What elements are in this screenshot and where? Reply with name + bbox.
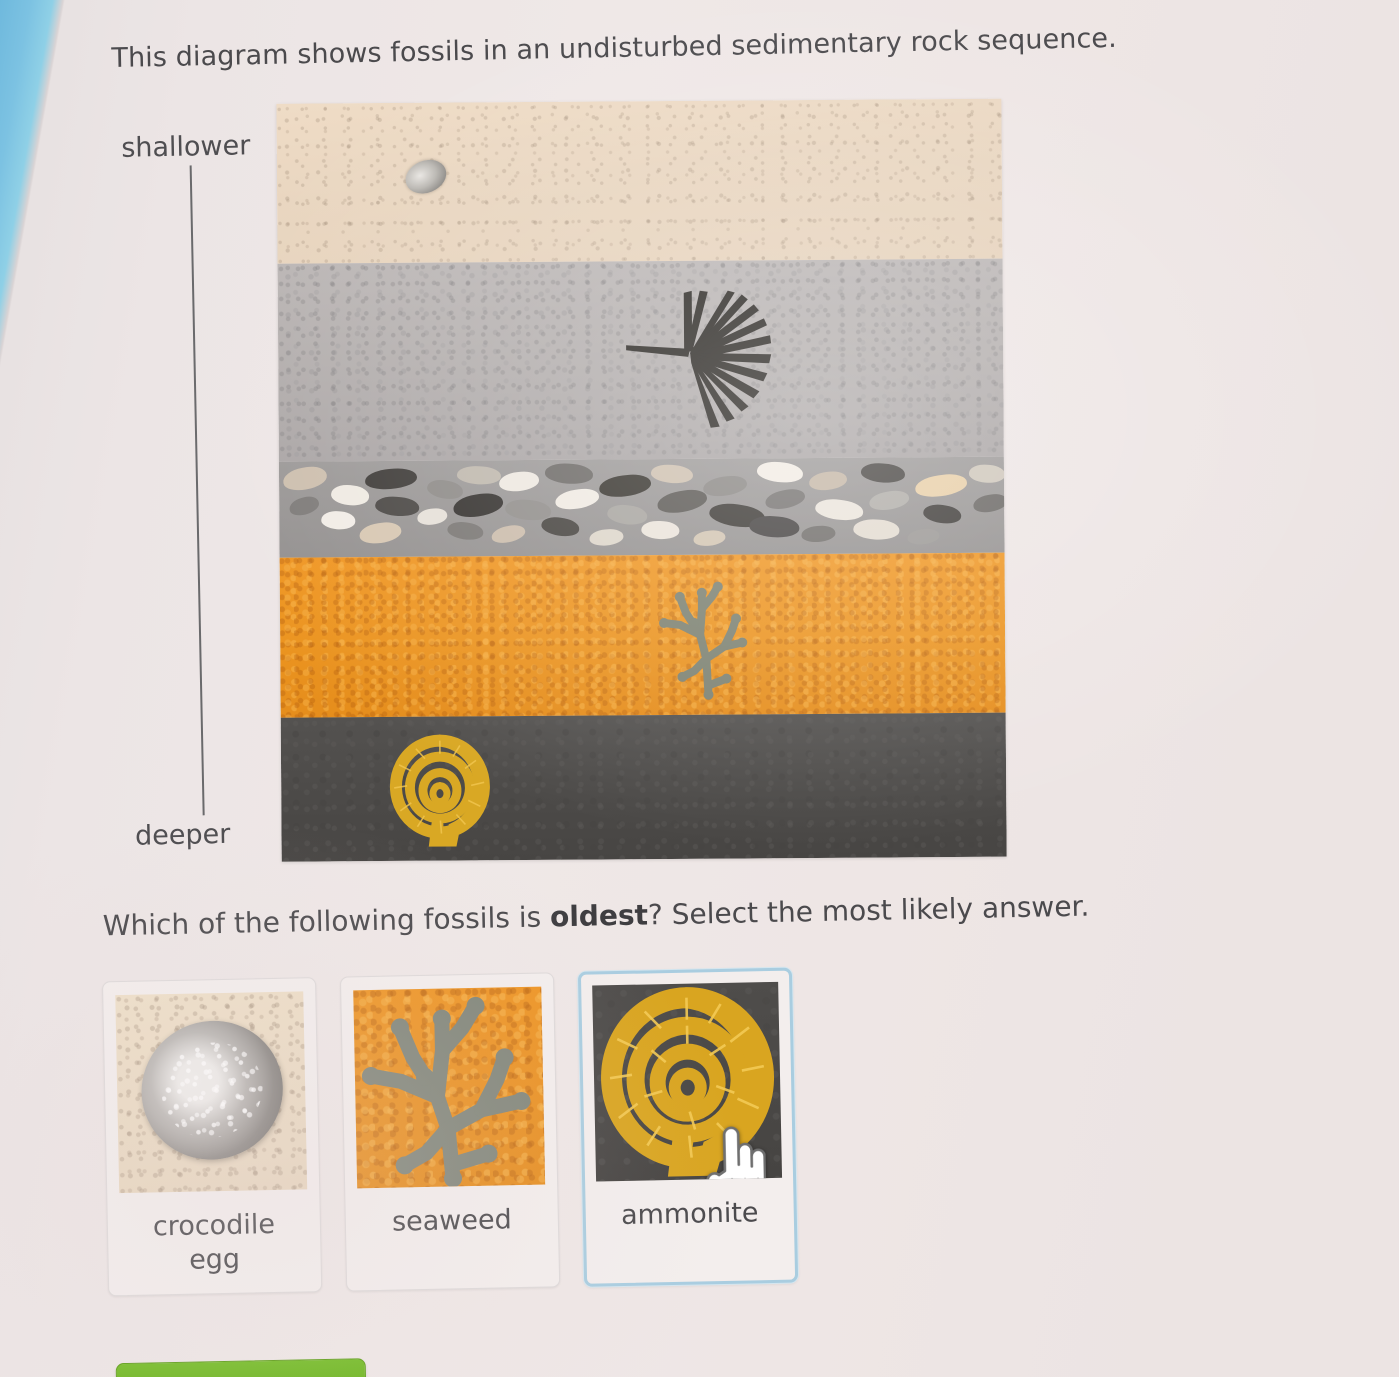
question-suffix: ? Select the most likely answer. [648,890,1090,932]
photographed-screen: This diagram shows fossils in an undistu… [0,0,1399,1377]
choice-crocodile-egg[interactable]: crocodileegg [102,977,322,1296]
choice-seaweed[interactable]: seaweed [340,972,560,1291]
seaweed-fossil-icon [650,572,771,703]
question-prefix: Which of the following fossils is [103,900,551,942]
crocodile-egg-icon [119,998,306,1183]
question-text: Which of the following fossils is oldest… [103,890,1090,943]
crocodile-egg-fossil-icon [400,154,451,200]
choice-label-ammonite: ammonite [621,1196,759,1233]
question-emphasis: oldest [550,898,649,933]
palm-leaf-fossil-icon [618,286,809,437]
sandstone-layer [276,99,1002,264]
choice-label-crocodile-egg: crocodileegg [153,1208,276,1278]
conglomerate-layer [279,457,1005,558]
hand-cursor-icon [703,1120,767,1181]
axis-label-shallower: shallower [121,130,251,164]
choice-label-seaweed: seaweed [392,1203,512,1239]
page-title: This diagram shows fossils in an undistu… [111,21,1211,74]
choice-ammonite[interactable]: ammonite [578,968,798,1287]
answer-choices: crocodileegg [102,968,798,1296]
orange-sandstone-layer [280,553,1006,718]
gray-mudstone-layer [278,259,1004,462]
axis-label-deeper: deeper [135,819,231,852]
seaweed-icon [353,987,545,1189]
crocodile-egg-thumbnail [115,991,307,1193]
rock-sequence-diagram [276,99,1006,862]
submit-button[interactable]: Submit [116,1358,367,1377]
depth-axis-line [190,165,205,815]
seaweed-thumbnail [353,987,545,1189]
ammonite-thumbnail [592,982,782,1182]
worksheet: This diagram shows fossils in an undistu… [62,0,1399,1377]
ammonite-fossil-icon [385,732,496,853]
dark-shale-layer [281,713,1007,862]
